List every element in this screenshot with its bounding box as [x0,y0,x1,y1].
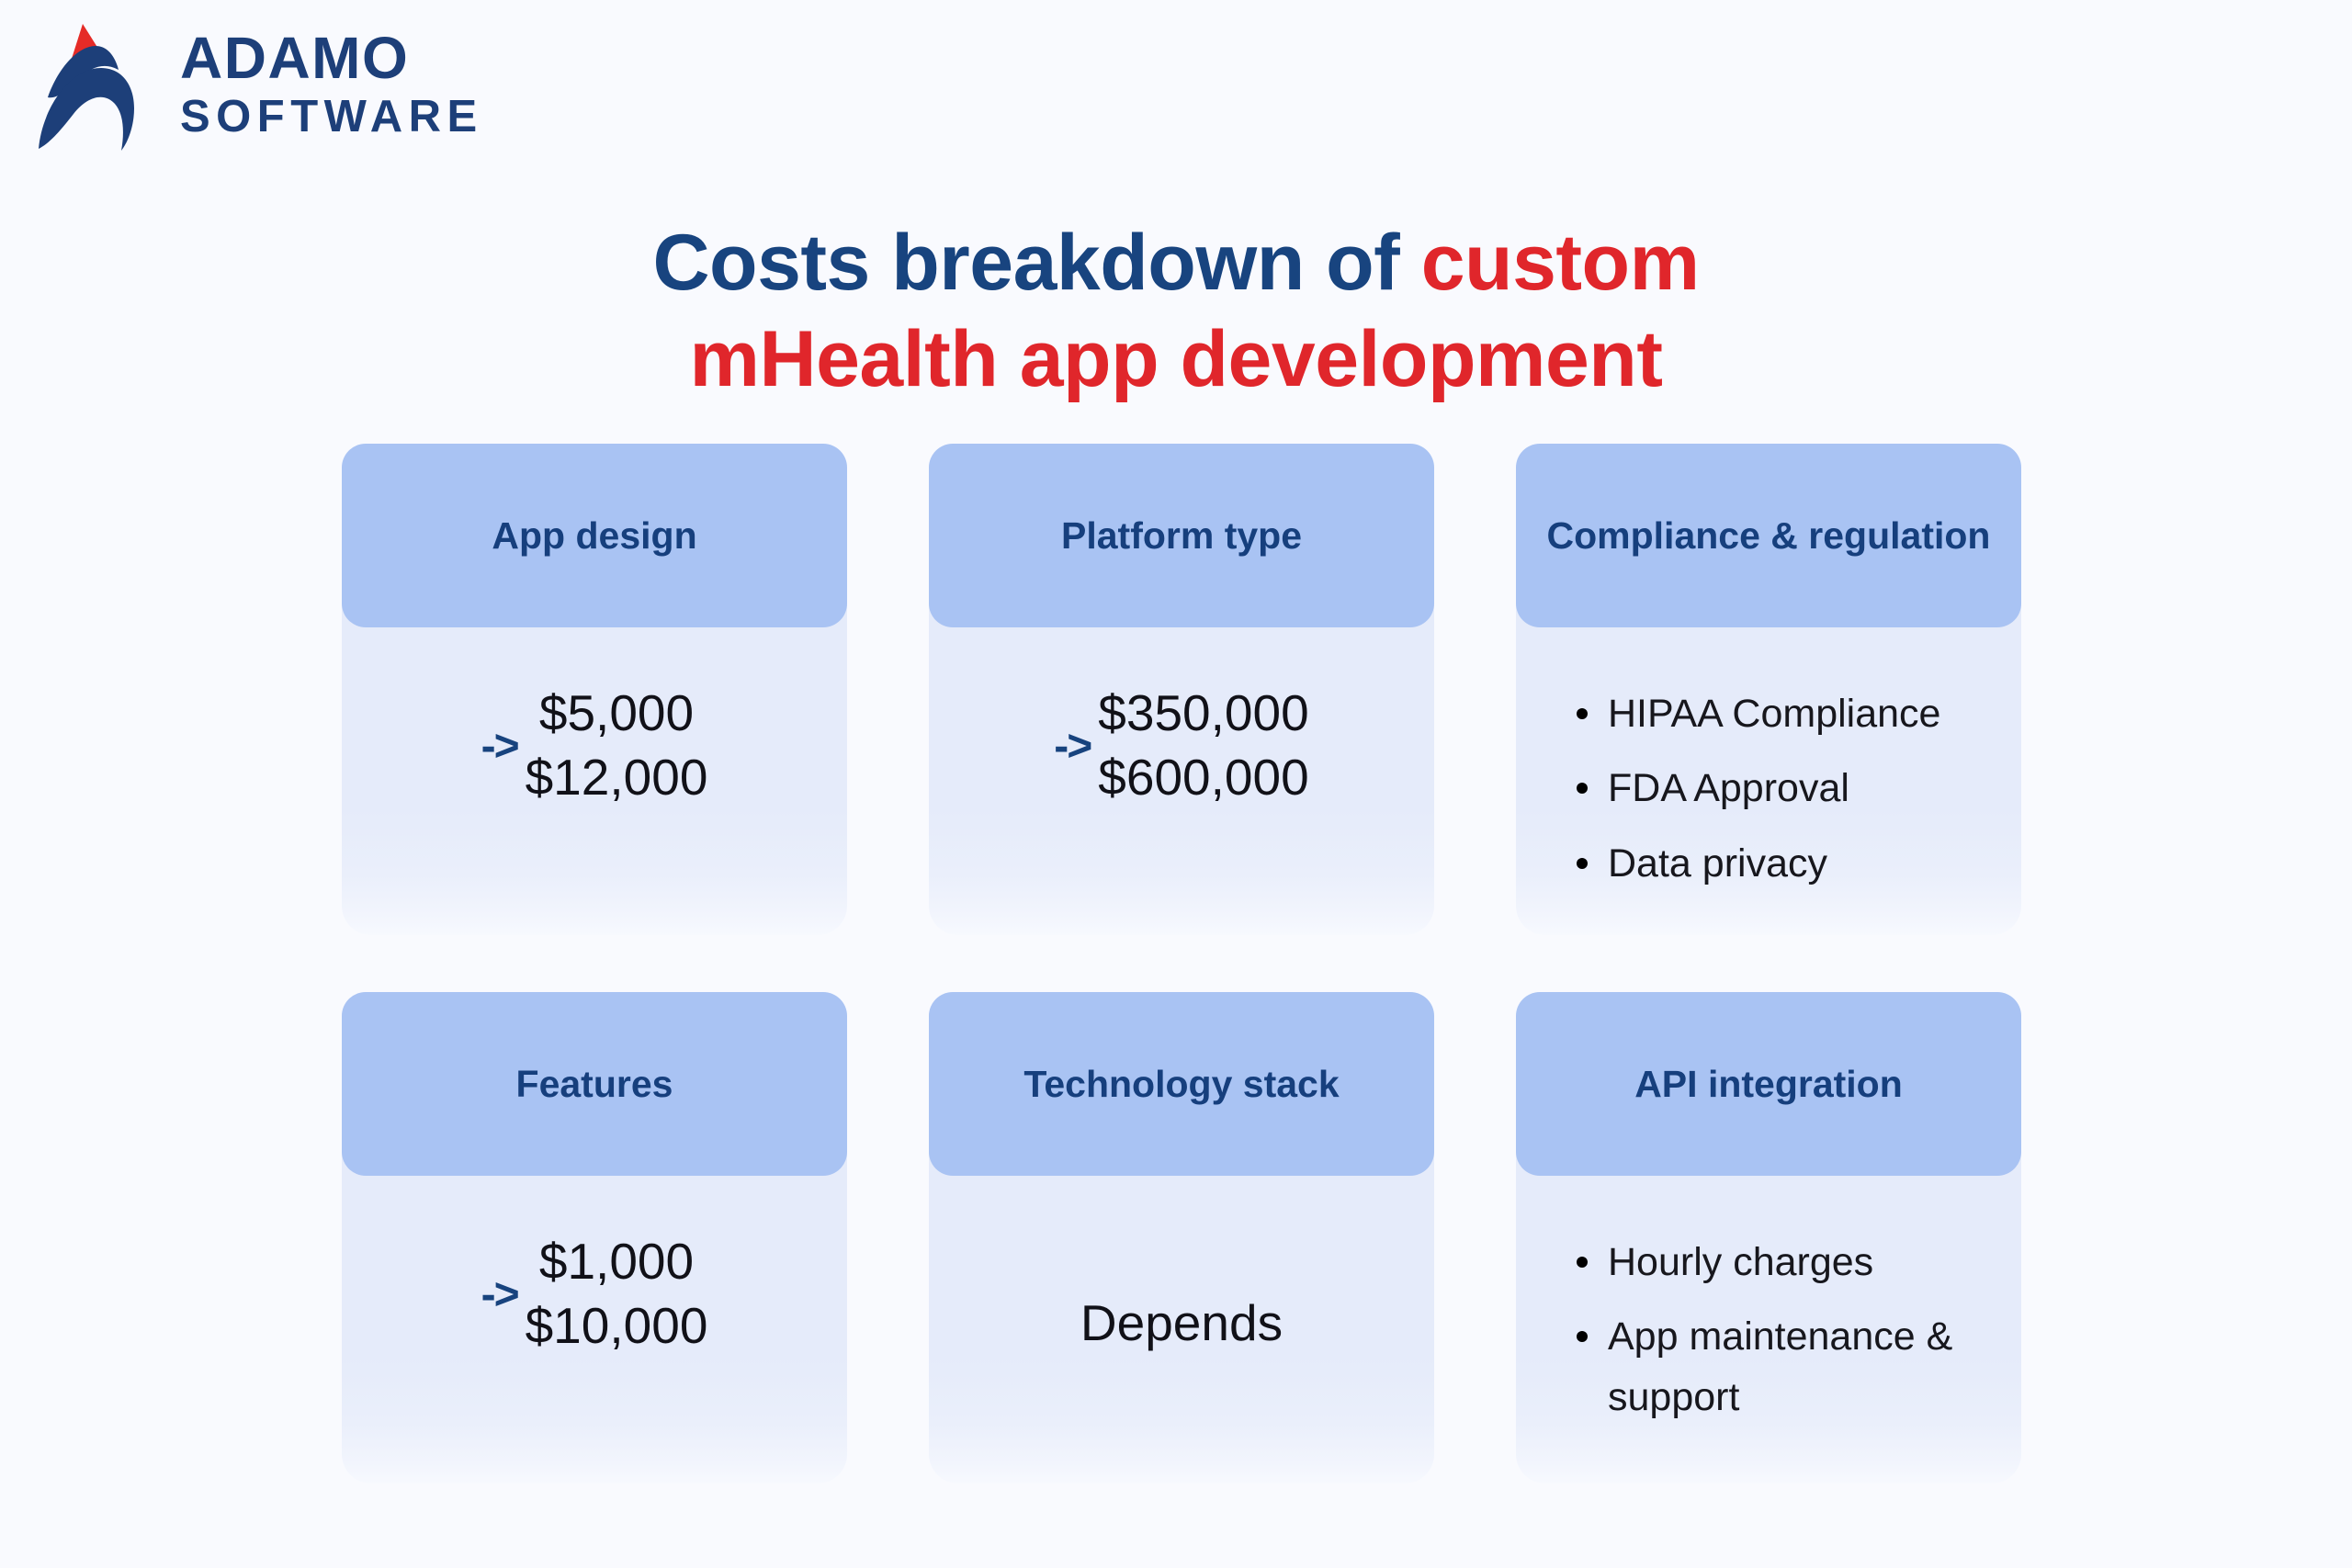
page-title-part2: custom [1421,219,1700,307]
card-header-app-design: App design [342,444,847,627]
card-body-compliance-regulation: HIPAA Compliance FDA Approval Data priva… [1516,602,2021,935]
card-header-platform-type: Platform type [929,444,1434,627]
cost-value-from: $5,000 [539,681,694,745]
range-arrow-icon: -> [481,1273,518,1317]
range-amounts: $1,000 $10,000 [526,1229,708,1359]
brand-logo: ADAMO SOFTWARE [22,13,483,155]
cost-range-app-design: -> $5,000 $12,000 [481,681,708,810]
cost-range-features: -> $1,000 $10,000 [481,1229,708,1359]
cost-card-features[interactable]: Features -> $1,000 $10,000 [342,992,847,1483]
cost-value-technology-stack: Depends [1080,1293,1283,1352]
bullet-list-api-integration: Hourly charges App maintenance & support [1516,1233,2021,1442]
cost-card-platform-type[interactable]: Platform type -> $350,000 $600,000 [929,444,1434,935]
brand-wordmark: ADAMO SOFTWARE [180,28,483,140]
list-item: Hourly charges [1575,1233,2021,1292]
cost-card-app-design[interactable]: App design -> $5,000 $12,000 [342,444,847,935]
cost-value-to: $12,000 [526,745,708,809]
cost-value-from: $350,000 [1098,681,1308,745]
cost-card-api-integration[interactable]: API integration Hourly charges App maint… [1516,992,2021,1483]
cost-range-platform-type: -> $350,000 $600,000 [1054,681,1308,810]
cost-value-to: $600,000 [1098,745,1308,809]
page-title-part1: Costs breakdown of [652,219,1420,307]
card-body-api-integration: Hourly charges App maintenance & support [1516,1150,2021,1483]
list-item: HIPAA Compliance [1575,684,2021,744]
cost-card-technology-stack[interactable]: Technology stack Depends [929,992,1434,1483]
card-body-app-design: -> $5,000 $12,000 [342,602,847,935]
list-item: FDA Approval [1575,759,2021,818]
range-arrow-icon: -> [1054,725,1091,769]
range-amounts: $5,000 $12,000 [526,681,708,810]
card-header-features: Features [342,992,847,1176]
list-item: Data privacy [1575,834,2021,894]
card-body-technology-stack: Depends [929,1150,1434,1483]
cost-value-from: $1,000 [539,1229,694,1293]
cost-card-grid: App design -> $5,000 $12,000 Platform ty… [342,444,2021,1483]
page-title: Costs breakdown of custom mHealth app de… [0,215,2352,408]
card-header-technology-stack: Technology stack [929,992,1434,1176]
page-title-part3: mHealth app development [690,315,1663,403]
card-body-platform-type: -> $350,000 $600,000 [929,602,1434,935]
cost-card-compliance-regulation[interactable]: Compliance & regulation HIPAA Compliance… [1516,444,2021,935]
card-header-compliance-regulation: Compliance & regulation [1516,444,2021,627]
adamo-swoosh-logo-icon [22,13,160,155]
card-body-features: -> $1,000 $10,000 [342,1150,847,1483]
bullet-list-compliance: HIPAA Compliance FDA Approval Data priva… [1516,684,2021,908]
cost-value-to: $10,000 [526,1293,708,1358]
brand-name-line2: SOFTWARE [180,95,483,140]
card-header-api-integration: API integration [1516,992,2021,1176]
range-amounts: $350,000 $600,000 [1098,681,1308,810]
list-item: App maintenance & support [1575,1307,2021,1427]
range-arrow-icon: -> [481,725,518,769]
brand-name-line1: ADAMO [180,28,483,87]
